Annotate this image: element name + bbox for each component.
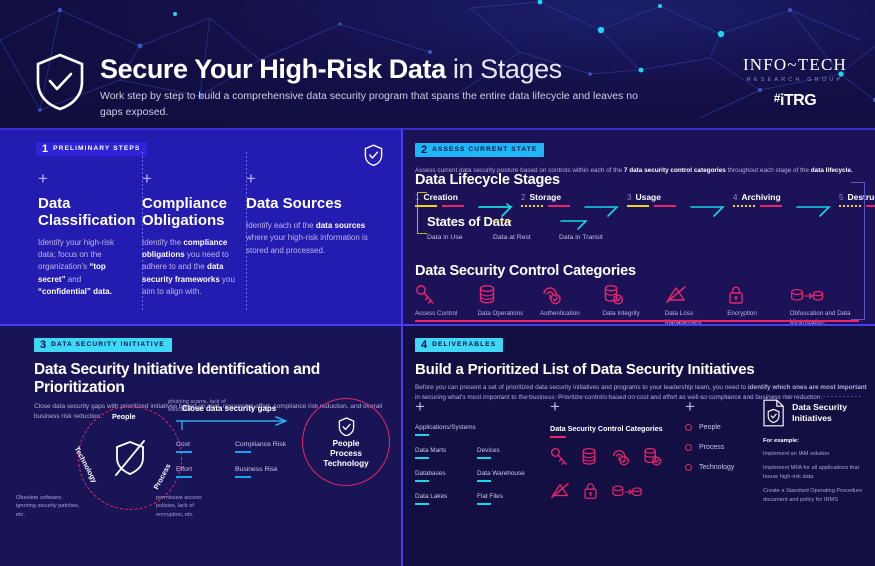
badge-1-number: 1	[36, 142, 53, 156]
plus-icon: +	[38, 170, 132, 187]
body-post: where your high-risk information is stor…	[246, 233, 368, 254]
deliverable-title: Data Security Initiatives	[792, 402, 871, 424]
database-transfer-icon	[611, 481, 643, 506]
badge-step-1: 1 PRELIMINARY STEPS	[36, 142, 147, 156]
badge-3-number: 3	[34, 338, 51, 352]
categories-heading: Data Security Control Categories	[415, 263, 863, 279]
source-label: Devices	[477, 447, 539, 454]
panel-deliverables: 4 DELIVERABLES Build a Prioritized List …	[403, 326, 875, 566]
underline-bar	[415, 503, 429, 505]
example-item: Create a Standard Operating Procedure do…	[763, 487, 871, 504]
body-mid: and	[66, 275, 82, 284]
column-data-sources: + Applications/Systems Data Marts Device…	[415, 398, 550, 516]
underline-bar	[550, 436, 566, 438]
source-item: Databases	[415, 470, 477, 482]
bar-pink	[760, 205, 782, 207]
state-item: Data in Use	[427, 234, 493, 241]
category-data-loss-management: Data Loss Management	[665, 284, 727, 324]
itrg-text: iTRG	[780, 92, 816, 109]
state-label: Data in Transit	[559, 234, 603, 241]
lifecycle-stage: 3Usage	[627, 192, 689, 207]
badge-4-number: 4	[415, 338, 432, 352]
column-deliverables: + People Process Technology Data	[685, 398, 870, 516]
lifecycle-stage: 4Archiving	[733, 192, 795, 207]
circle-label-people: People	[112, 412, 136, 421]
horizontal-divider-left	[0, 324, 401, 326]
state-label: Data at Rest	[493, 234, 531, 241]
brand-logo-itrg: #iTRG	[743, 91, 847, 110]
page-subtitle: Work step by step to build a comprehensi…	[100, 89, 645, 119]
stage-name: Storage	[529, 192, 561, 202]
arrow-icon	[689, 203, 733, 219]
plus-icon: +	[550, 398, 685, 415]
bar-dotted	[521, 205, 543, 207]
underline-bar	[235, 476, 251, 478]
underline-bar	[477, 457, 491, 459]
outcome-circle: People Process Technology	[302, 398, 390, 486]
states-heading: States of Data	[427, 214, 625, 229]
database-icon	[580, 447, 598, 472]
category-encryption: Encryption	[727, 284, 789, 324]
ppt-label: People	[699, 424, 721, 431]
card-data-sources: + Data Sources Identify each of the data…	[246, 170, 386, 299]
col2-title-wrap: Data Security Control Categories	[550, 424, 685, 438]
source-item: Data Warehouse	[477, 470, 539, 482]
stage-number: 5	[839, 193, 843, 202]
body-bold: identify which ones are most important	[748, 384, 867, 391]
category-label: Data Integrity	[602, 310, 664, 319]
badge-2-label: ASSESS CURRENT STATE	[432, 143, 537, 157]
states-list: Data in Use Data at Rest Data in Transit	[427, 234, 625, 241]
gap-factor: Effort	[176, 466, 235, 478]
category-label: Access Control	[415, 310, 477, 319]
underline-bar	[176, 451, 192, 453]
source-label: Data Marts	[415, 447, 477, 454]
bar-pink	[442, 205, 464, 207]
bar-yellow	[627, 205, 649, 207]
lock-icon	[582, 481, 599, 506]
category-obfuscation: Obfuscation and Data Minimization	[790, 284, 863, 324]
badge-3-label: DATA SECURITY INITIATIVE	[51, 338, 165, 352]
control-categories-block: Data Security Control Categories Access …	[415, 263, 863, 324]
body-bold-1: data sources	[316, 221, 365, 230]
fingerprint-check-icon	[540, 284, 602, 308]
card-heading: Data Sources	[246, 196, 386, 213]
panel3-heading: Data Security Initiative Identification …	[34, 361, 394, 397]
badge-step-2: 2 ASSESS CURRENT STATE	[415, 143, 544, 157]
database-transfer-icon	[790, 284, 863, 308]
brand-logo-name: INFO~TECH	[743, 55, 847, 75]
col2-title: Data Security Control Categories	[550, 424, 663, 433]
state-item: Data in Transit	[559, 234, 625, 241]
source-item: Devices	[477, 447, 539, 459]
ppt-label: Process	[699, 444, 724, 451]
underline-bar	[415, 457, 429, 459]
category-authentication: Authentication	[540, 284, 602, 324]
state-item: Data at Rest	[493, 234, 559, 241]
states-of-data-block: States of Data Data in Use Data at Rest …	[427, 214, 625, 241]
badge-2-number: 2	[415, 143, 432, 157]
underline-bar	[176, 476, 192, 478]
brand-logo-tagline: RESEARCH GROUP	[743, 77, 847, 83]
source-label: Applications/Systems	[415, 424, 539, 431]
panel-data-security-initiative: 3 DATA SECURITY INITIATIVE Data Security…	[0, 326, 401, 566]
source-label: Databases	[415, 470, 477, 477]
example-item: Implement an IAM solution	[763, 450, 871, 458]
lifecycle-bracket	[417, 192, 427, 234]
source-label: Data Lakes	[415, 493, 477, 500]
stage-number: 4	[733, 193, 737, 202]
header: Secure Your High-Risk Data in Stages Wor…	[0, 0, 875, 130]
example-label: For example:	[763, 438, 871, 444]
body-pre: Identify the	[142, 238, 183, 247]
plus-icon: +	[142, 170, 236, 187]
stage-name: Creation	[423, 192, 457, 202]
deliverable-card: Data Security Initiatives For example: I…	[763, 396, 871, 504]
underline-bar	[415, 480, 429, 482]
stage-name: Usage	[635, 192, 661, 202]
circle-marker-icon	[685, 444, 692, 451]
badge-1-label: PRELIMINARY STEPS	[53, 142, 140, 156]
outcome-line-2: Process	[330, 449, 362, 458]
no-data-loss-icon	[550, 481, 570, 506]
bar-pink	[548, 205, 570, 207]
close-gaps-title: Close data security gaps	[182, 404, 294, 413]
stage-number: 2	[521, 193, 525, 202]
source-item: Data Lakes	[415, 493, 477, 505]
no-data-loss-icon	[665, 284, 727, 308]
source-label: Data Warehouse	[477, 470, 539, 477]
bar-dotted	[733, 205, 755, 207]
key-icon	[550, 447, 568, 472]
plus-icon: +	[246, 170, 386, 187]
underline-bar	[415, 434, 429, 436]
gap-label: Business Risk	[235, 466, 294, 473]
panel4-heading: Build a Prioritized List of Data Securit…	[415, 361, 867, 378]
category-icon-row-1	[550, 447, 685, 472]
shield-check-icon	[338, 417, 355, 436]
arrow-icon	[559, 220, 593, 232]
card-data-classification: + Data Classification Identify your high…	[38, 170, 142, 299]
dotted-bar	[493, 220, 513, 222]
card-body: Identify your high-risk data; focus on t…	[38, 237, 132, 299]
shield-check-icon	[34, 52, 86, 112]
panel-assess-current-state: 2 ASSESS CURRENT STATE Assess current da…	[403, 130, 875, 324]
database-check-icon	[602, 284, 664, 308]
badge-step-4: 4 DELIVERABLES	[415, 338, 503, 352]
page-title: Secure Your High-Risk Data in Stages	[100, 55, 645, 83]
gap-factor: Cost	[176, 441, 235, 453]
category-label: Encryption	[727, 310, 789, 319]
card-heading: Compliance Obligations	[142, 196, 236, 230]
lock-icon	[727, 284, 789, 308]
stage-number: 3	[627, 193, 631, 202]
example-item: Implement MFA for all applications that …	[763, 464, 871, 481]
gap-label: Compliance Risk	[235, 441, 294, 448]
column-control-categories: + Data Security Control Categories	[550, 398, 685, 516]
lifecycle-heading: Data Lifecycle Stages	[415, 172, 875, 188]
body-bold-2: “confidential” data.	[38, 287, 112, 296]
fingerprint-check-icon	[610, 447, 630, 472]
category-label: Data Operations	[477, 310, 539, 319]
category-access-control: Access Control	[415, 284, 477, 324]
card-compliance-obligations: + Compliance Obligations Identify the co…	[142, 170, 246, 299]
card-body: Identify each of the data sources where …	[246, 220, 386, 257]
horizontal-divider-right	[403, 324, 875, 326]
underline-bar	[477, 480, 491, 482]
source-item: Applications/Systems	[415, 424, 539, 436]
badge-step-3: 3 DATA SECURITY INITIATIVE	[34, 338, 172, 352]
brand-logo: INFO~TECH RESEARCH GROUP #iTRG	[743, 55, 847, 110]
close-gaps-block: Close data security gaps Cost Compliance…	[176, 404, 294, 491]
database-check-icon	[642, 447, 662, 472]
gap-label: Effort	[176, 466, 235, 473]
key-icon	[415, 284, 477, 308]
source-item: Flat Files	[477, 493, 539, 505]
annotation-technology: Obsolete software, ignoring security pat…	[16, 494, 82, 519]
gap-factor-list: Cost Compliance Risk Effort Business Ris…	[176, 441, 294, 491]
vertical-divider	[401, 130, 403, 566]
header-title-block: Secure Your High-Risk Data in Stages Wor…	[34, 52, 645, 120]
card-heading: Data Classification	[38, 196, 132, 230]
infographic-page: Secure Your High-Risk Data in Stages Wor…	[0, 0, 875, 566]
page-title-light: in Stages	[453, 54, 562, 84]
gap-label: Cost	[176, 441, 235, 448]
database-icon	[477, 284, 539, 308]
gap-factor: Compliance Risk	[235, 441, 294, 453]
lifecycle-stage: 2Storage	[521, 192, 583, 207]
badge-4-label: DELIVERABLES	[432, 338, 496, 352]
ppt-label: Technology	[699, 464, 734, 471]
shield-check-icon	[364, 144, 383, 166]
outcome-line-3: Technology	[323, 459, 368, 468]
underline-bar	[477, 503, 491, 505]
gap-factor: Business Risk	[235, 466, 294, 478]
arrow-icon	[176, 416, 294, 430]
bar-pink	[654, 205, 676, 207]
source-item: Data Marts	[415, 447, 477, 459]
panel-preliminary-steps: 1 PRELIMINARY STEPS + Data Classificatio…	[0, 130, 401, 324]
outcome-line-1: People	[333, 439, 360, 448]
circle-marker-icon	[685, 464, 692, 471]
categories-underline	[415, 320, 859, 322]
annotation-process: permissive access policies, lack of encr…	[156, 494, 222, 519]
body-pre: Identify each of the	[246, 221, 316, 230]
plus-icon: +	[415, 398, 550, 415]
category-data-integrity: Data Integrity	[602, 284, 664, 324]
page-title-bold: Secure Your High-Risk Data	[100, 54, 446, 84]
categories-list: Access Control Data Operations Authentic…	[415, 284, 863, 324]
card-body: Identify the compliance obligations you …	[142, 237, 236, 299]
body-pre: Before you can present a set of prioriti…	[415, 384, 748, 391]
category-label: Authentication	[540, 310, 602, 319]
underline-bar	[235, 451, 251, 453]
arrow-icon	[795, 203, 839, 219]
stage-name: Archiving	[741, 192, 780, 202]
bar-pink	[866, 205, 875, 207]
source-label: Flat Files	[477, 493, 539, 500]
category-icon-row-2	[550, 481, 685, 506]
source-list: Applications/Systems Data Marts Devices …	[415, 424, 550, 516]
document-shield-icon	[763, 396, 784, 430]
circle-marker-icon	[685, 424, 692, 431]
shield-slash-icon	[108, 438, 152, 478]
category-data-operations: Data Operations	[477, 284, 539, 324]
